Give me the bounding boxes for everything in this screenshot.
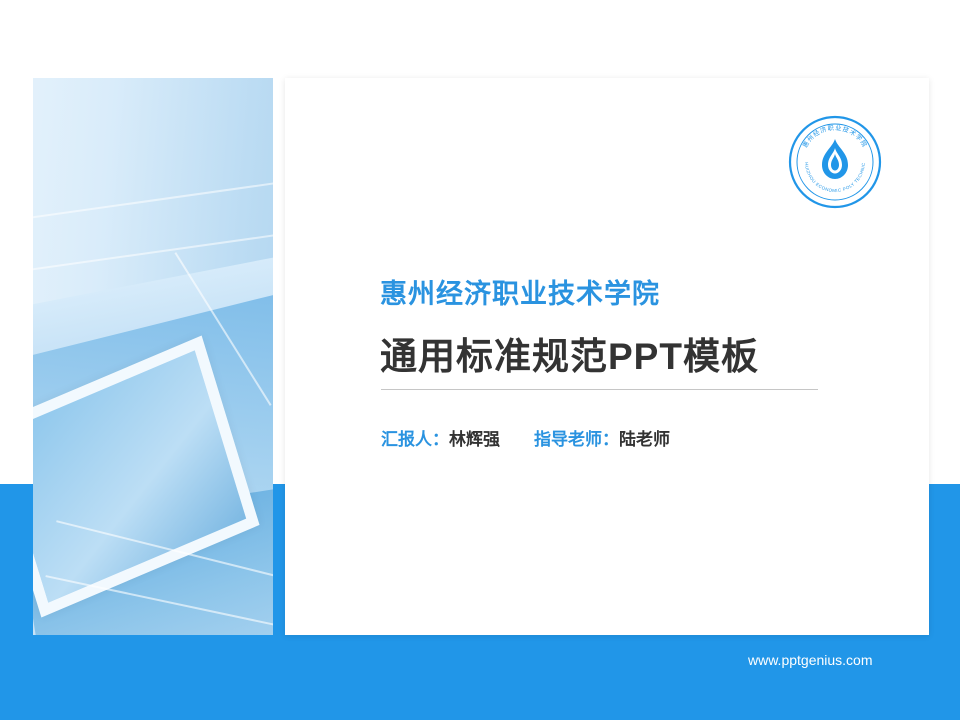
title-divider bbox=[381, 389, 818, 390]
school-emblem-logo: 惠州经济职业技术学院 HUIZHOU ECONOMIC POLY TECHNIC bbox=[788, 115, 882, 209]
page-title: 通用标准规范PPT模板 bbox=[380, 326, 759, 380]
site-url: www.pptgenius.com bbox=[748, 652, 873, 668]
cover-photo-panel bbox=[33, 78, 273, 635]
presentation-slide: 惠州经济职业技术学院 HUIZHOU ECONOMIC POLY TECHNIC… bbox=[0, 0, 960, 720]
advisor-name: 陆老师 bbox=[619, 430, 670, 449]
presenter-name: 林辉强 bbox=[449, 430, 500, 449]
presenter-label: 汇报人： bbox=[381, 430, 449, 449]
school-name: 惠州经济职业技术学院 bbox=[380, 272, 660, 311]
presenter-info-row: 汇报人：林辉强指导老师：陆老师 bbox=[381, 425, 670, 450]
advisor-label: 指导老师： bbox=[534, 430, 619, 449]
